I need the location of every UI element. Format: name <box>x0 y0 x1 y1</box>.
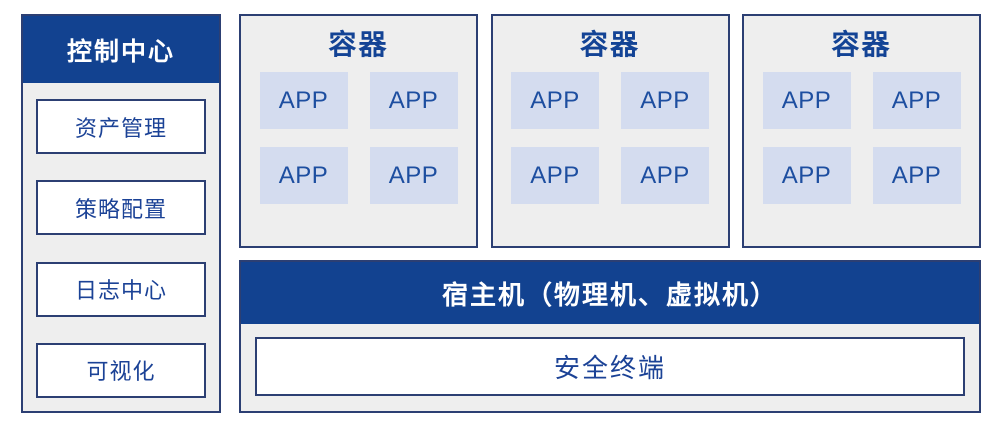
app-box[interactable]: APP <box>370 72 458 129</box>
sidebar-item-label: 策略配置 <box>75 192 167 224</box>
app-box[interactable]: APP <box>511 72 599 129</box>
control-center-panel: 控制中心 资产管理 策略配置 日志中心 可视化 <box>21 14 221 413</box>
control-center-header: 控制中心 <box>23 16 219 83</box>
container-title: 容器 <box>328 31 388 59</box>
sidebar-item-log-center[interactable]: 日志中心 <box>36 262 206 317</box>
app-box[interactable]: APP <box>260 72 348 129</box>
container-title: 容器 <box>831 31 891 59</box>
app-grid: APP APP APP APP <box>511 72 709 204</box>
sidebar-item-label: 资产管理 <box>75 111 167 143</box>
app-grid: APP APP APP APP <box>260 72 458 204</box>
host-machine-panel: 宿主机（物理机、虚拟机） 安全终端 <box>239 260 981 413</box>
app-box[interactable]: APP <box>873 72 961 129</box>
host-machine-header: 宿主机（物理机、虚拟机） <box>241 262 979 324</box>
container-title: 容器 <box>580 31 640 59</box>
app-box[interactable]: APP <box>260 147 348 204</box>
sidebar-item-label: 可视化 <box>86 354 155 386</box>
app-box[interactable]: APP <box>763 72 851 129</box>
sidebar-item-policy-configuration[interactable]: 策略配置 <box>36 180 206 235</box>
architecture-diagram: 控制中心 资产管理 策略配置 日志中心 可视化 容器 APP APP APP A… <box>0 0 1001 437</box>
sidebar-item-visualization[interactable]: 可视化 <box>36 343 206 398</box>
app-box[interactable]: APP <box>621 72 709 129</box>
sidebar-item-asset-management[interactable]: 资产管理 <box>36 99 206 154</box>
sidebar-item-label: 日志中心 <box>75 273 167 305</box>
host-machine-body: 安全终端 <box>241 324 979 411</box>
app-box[interactable]: APP <box>763 147 851 204</box>
app-box[interactable]: APP <box>511 147 599 204</box>
container-panel-1: 容器 APP APP APP APP <box>239 14 478 248</box>
app-box[interactable]: APP <box>621 147 709 204</box>
app-grid: APP APP APP APP <box>763 72 961 204</box>
app-box[interactable]: APP <box>873 147 961 204</box>
app-box[interactable]: APP <box>370 147 458 204</box>
container-panel-3: 容器 APP APP APP APP <box>742 14 981 248</box>
security-terminal-box[interactable]: 安全终端 <box>255 337 965 396</box>
container-panel-2: 容器 APP APP APP APP <box>491 14 730 248</box>
control-center-item-list: 资产管理 策略配置 日志中心 可视化 <box>23 83 219 411</box>
containers-row: 容器 APP APP APP APP 容器 APP APP APP APP 容器… <box>239 14 981 248</box>
